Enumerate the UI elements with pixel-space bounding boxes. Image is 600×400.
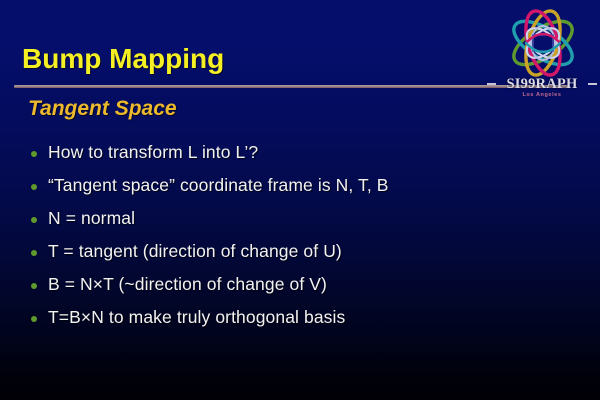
bullet-dot-icon — [31, 283, 37, 289]
bullet-text: “Tangent space” coordinate frame is N, T… — [48, 175, 389, 196]
bullet-list: How to transform L into L’? “Tangent spa… — [28, 136, 583, 334]
bullet-dot-icon — [31, 151, 37, 157]
logo-location-text: Los Angeles — [489, 92, 595, 98]
list-item: B = N×T (~direction of change of V) — [28, 268, 583, 301]
bullet-text: T = tangent (direction of change of U) — [48, 241, 342, 262]
list-item: N = normal — [28, 202, 583, 235]
list-item: “Tangent space” coordinate frame is N, T… — [28, 169, 583, 202]
slide-subtitle: Tangent Space — [28, 97, 177, 121]
list-item: How to transform L into L’? — [28, 136, 583, 169]
siggraph-rings-icon — [500, 8, 586, 78]
bullet-text: N = normal — [48, 208, 135, 229]
bullet-dot-icon — [31, 250, 37, 256]
title-divider-rule — [14, 85, 570, 88]
bullet-dot-icon — [31, 316, 37, 322]
list-item: T = tangent (direction of change of U) — [28, 235, 583, 268]
bullet-dot-icon — [31, 217, 37, 223]
bullet-text: B = N×T (~direction of change of V) — [48, 274, 327, 295]
bullet-dot-icon — [31, 184, 37, 190]
list-item: T=B×N to make truly orthogonal basis — [28, 301, 583, 334]
logo-wordmark: SI99RAPH — [489, 76, 595, 93]
slide-title: Bump Mapping — [22, 43, 224, 75]
siggraph-logo: SI99RAPH Los Angeles — [489, 8, 595, 104]
bullet-text: How to transform L into L’? — [48, 142, 258, 163]
presentation-slide: Bump Mapping Tangent Space How to transf… — [0, 0, 600, 400]
bullet-text: T=B×N to make truly orthogonal basis — [48, 307, 345, 328]
